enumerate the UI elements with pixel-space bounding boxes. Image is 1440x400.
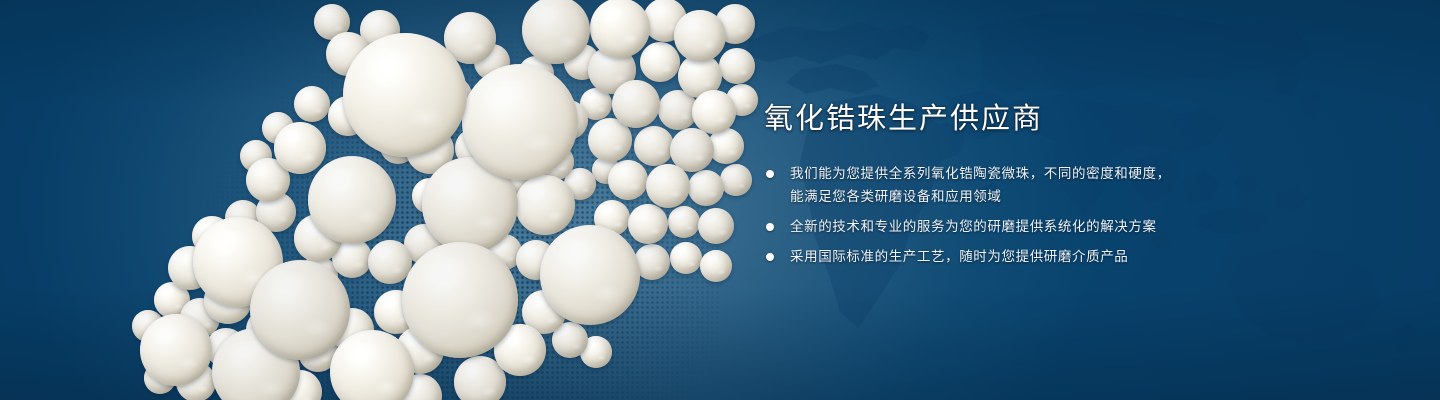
bullet-dot-icon — [766, 253, 774, 261]
banner-headline: 氧化锆珠生产供应商 — [764, 104, 1384, 136]
bullet-text-line1: 采用国际标准的生产工艺，随时为您提供研磨介质产品 — [790, 245, 1384, 268]
bullet-item: 采用国际标准的生产工艺，随时为您提供研磨介质产品 — [764, 245, 1384, 268]
bullet-item: 我们能为您提供全系列氧化锆陶瓷微珠，不同的密度和硬度， 能满足您各类研磨设备和应… — [764, 162, 1384, 208]
bullet-text-line1: 全新的技术和专业的服务为您的研磨提供系统化的解决方案 — [790, 215, 1384, 238]
bullet-item: 全新的技术和专业的服务为您的研磨提供系统化的解决方案 — [764, 215, 1384, 238]
bullet-text-line2: 能满足您各类研磨设备和应用领域 — [790, 185, 1384, 208]
hero-banner: 氧化锆珠生产供应商 我们能为您提供全系列氧化锆陶瓷微珠，不同的密度和硬度， 能满… — [0, 0, 1440, 400]
bullet-text-line1: 我们能为您提供全系列氧化锆陶瓷微珠，不同的密度和硬度， — [790, 162, 1384, 185]
banner-bullet-list: 我们能为您提供全系列氧化锆陶瓷微珠，不同的密度和硬度， 能满足您各类研磨设备和应… — [764, 162, 1384, 268]
banner-content: 氧化锆珠生产供应商 我们能为您提供全系列氧化锆陶瓷微珠，不同的密度和硬度， 能满… — [764, 104, 1384, 268]
bullet-dot-icon — [766, 223, 774, 231]
bullet-dot-icon — [766, 170, 774, 178]
